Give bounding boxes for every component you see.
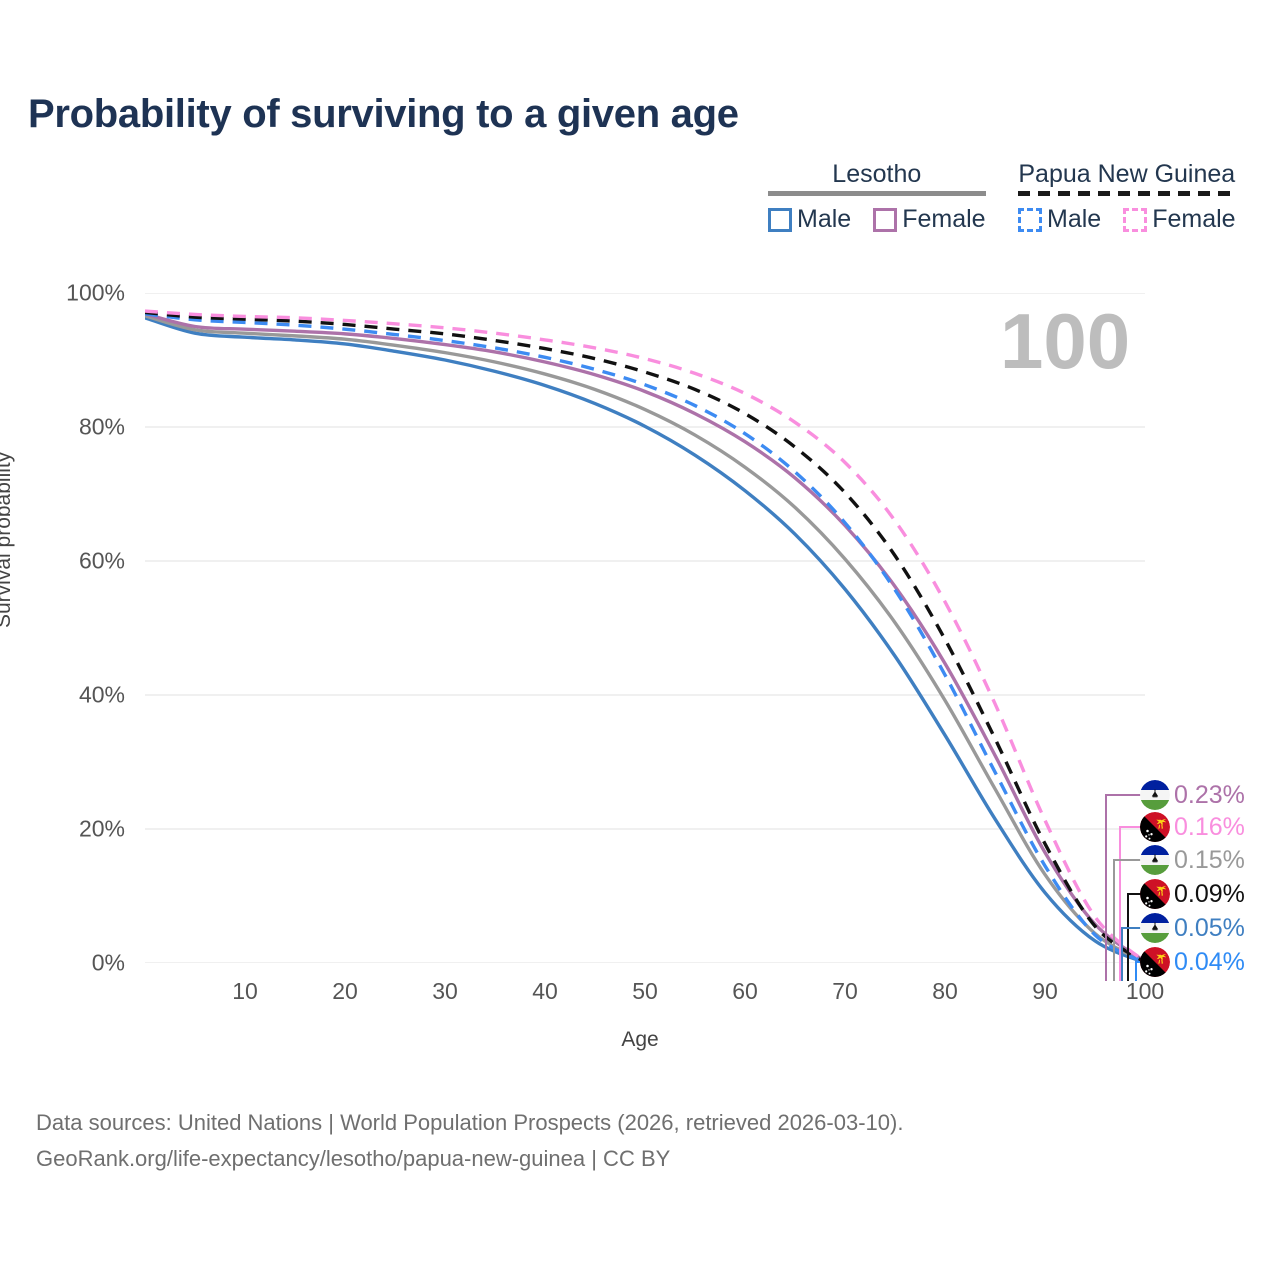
annotation-leader-line	[1106, 795, 1141, 981]
papua-new-guinea-flag-icon	[1140, 947, 1170, 977]
papua-new-guinea-flag-icon	[1140, 947, 1170, 977]
legend-item-lesotho-male[interactable]: Male	[768, 205, 851, 234]
annotation-value: 0.23%	[1174, 781, 1245, 810]
annotation-row[interactable]: 0.09%	[1140, 877, 1245, 911]
legend-group-lesotho: Lesotho Male Female	[768, 160, 986, 234]
annotation-value: 0.04%	[1174, 948, 1245, 977]
x-axis-title: Age	[621, 1028, 658, 1052]
legend-item-png-female[interactable]: Female	[1123, 205, 1235, 234]
lesotho-flag-icon	[1140, 780, 1170, 810]
y-axis-tick-label: 100%	[66, 280, 125, 307]
x-axis-tick-label: 40	[532, 978, 558, 1005]
legend-item-label: Female	[902, 205, 985, 234]
footer-line-url: GeoRank.org/life-expectancy/lesotho/papu…	[36, 1141, 903, 1177]
x-axis-tick-label: 70	[832, 978, 858, 1005]
lesotho-flag-icon	[1140, 780, 1170, 810]
lesotho-flag-icon	[1140, 845, 1170, 875]
legend-country-label: Lesotho	[768, 160, 986, 188]
footer-line-sources: Data sources: United Nations | World Pop…	[36, 1105, 903, 1141]
annotation-row[interactable]: 0.05%	[1140, 911, 1245, 945]
x-axis-tick-label: 50	[632, 978, 658, 1005]
y-axis-tick-label: 20%	[79, 816, 125, 843]
y-axis-tick-label: 80%	[79, 414, 125, 441]
legend-swatch-icon	[1123, 208, 1147, 232]
legend-country-label: Papua New Guinea	[1018, 160, 1236, 188]
lesotho-flag-icon	[1140, 913, 1170, 943]
legend-group-papua-new-guinea: Papua New Guinea Male Female	[1018, 160, 1236, 234]
x-axis-tick-label: 90	[1032, 978, 1058, 1005]
chart-legend: Lesotho Male Female Papua New Guinea Mal	[760, 160, 1260, 246]
legend-country-rule-solid	[768, 191, 986, 196]
x-axis-tick-label: 60	[732, 978, 758, 1005]
annotation-value: 0.15%	[1174, 846, 1245, 875]
annotation-value: 0.05%	[1174, 914, 1245, 943]
page-title: Probability of surviving to a given age	[28, 92, 739, 137]
end-value-annotations: 0.23% 0.16%	[1140, 770, 1280, 985]
legend-swatch-icon	[768, 208, 792, 232]
legend-item-label: Male	[797, 205, 851, 234]
annotation-row[interactable]: 0.23%	[1140, 778, 1245, 812]
y-axis-tick-label: 60%	[79, 548, 125, 575]
lesotho-flag-icon	[1140, 913, 1170, 943]
papua-new-guinea-flag-icon	[1140, 879, 1170, 909]
y-axis-title: Survival probability	[0, 452, 16, 628]
legend-item-label: Female	[1152, 205, 1235, 234]
y-axis-tick-label: 0%	[92, 950, 125, 977]
series-line	[145, 318, 1145, 963]
x-axis-tick-label: 20	[332, 978, 358, 1005]
papua-new-guinea-flag-icon	[1140, 879, 1170, 909]
chart-root: Probability of surviving to a given age …	[0, 0, 1280, 1280]
lesotho-flag-icon	[1140, 845, 1170, 875]
x-axis-tick-label: 10	[232, 978, 258, 1005]
x-axis-tick-label: 80	[932, 978, 958, 1005]
series-line	[145, 316, 1145, 962]
legend-swatch-icon	[1018, 208, 1042, 232]
papua-new-guinea-flag-icon	[1140, 812, 1170, 842]
annotation-value: 0.16%	[1174, 813, 1245, 842]
annotation-row[interactable]: 0.04%	[1140, 945, 1245, 979]
annotation-leader-line	[1122, 928, 1141, 981]
legend-country-rule-dashed	[1018, 191, 1236, 196]
papua-new-guinea-flag-icon	[1140, 812, 1170, 842]
annotation-value: 0.09%	[1174, 880, 1245, 909]
annotation-row[interactable]: 0.16%	[1140, 810, 1245, 844]
x-axis-tick-label: 30	[432, 978, 458, 1005]
legend-item-png-male[interactable]: Male	[1018, 205, 1101, 234]
legend-item-label: Male	[1047, 205, 1101, 234]
legend-item-lesotho-female[interactable]: Female	[873, 205, 985, 234]
y-axis-tick-label: 40%	[79, 682, 125, 709]
legend-swatch-icon	[873, 208, 897, 232]
annotation-row[interactable]: 0.15%	[1140, 843, 1245, 877]
annotation-leader-line	[1120, 827, 1141, 981]
annotation-leader-lines	[1100, 770, 1145, 985]
footer: Data sources: United Nations | World Pop…	[36, 1105, 903, 1177]
plot-area	[145, 293, 1145, 963]
